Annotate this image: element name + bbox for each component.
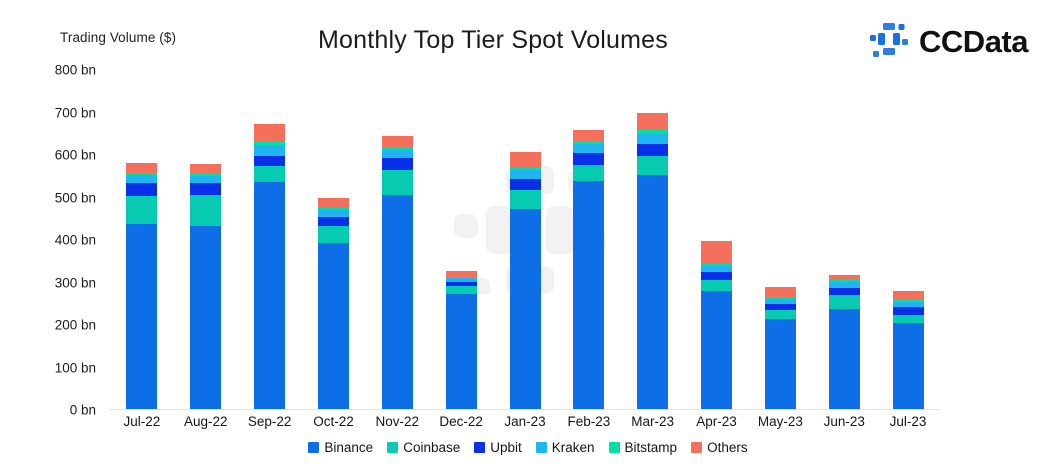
plot-area (110, 70, 940, 410)
bar-segment-coinbase[interactable] (510, 190, 541, 209)
legend-item[interactable]: Bitstamp (609, 440, 678, 455)
legend-label: Others (707, 440, 748, 455)
bar-segment-binance[interactable] (190, 226, 221, 410)
bar-segment-coinbase[interactable] (446, 286, 477, 294)
bar-segment-binance[interactable] (318, 243, 349, 410)
x-axis-tick-label: May-23 (758, 414, 803, 429)
bar-segment-binance[interactable] (765, 319, 796, 410)
bar-segment-coinbase[interactable] (765, 310, 796, 319)
legend-label: Bitstamp (625, 440, 678, 455)
bar-column[interactable] (510, 152, 541, 410)
bar-segment-binance[interactable] (510, 209, 541, 410)
bar-segment-kraken[interactable] (318, 210, 349, 217)
bar-segment-coinbase[interactable] (318, 226, 349, 244)
bar-segment-others[interactable] (254, 124, 285, 141)
chart-legend: BinanceCoinbaseUpbitKrakenBitstampOthers (0, 440, 1056, 455)
x-axis-tick-label: Dec-22 (439, 414, 483, 429)
bar-column[interactable] (446, 271, 477, 410)
bar-segment-coinbase[interactable] (126, 196, 157, 224)
bar-column[interactable] (318, 198, 349, 410)
y-axis-tick-label: 300 bn (55, 275, 96, 290)
x-axis-tick-label: Jun-23 (824, 414, 865, 429)
legend-swatch-icon (609, 442, 620, 453)
bar-segment-binance[interactable] (573, 181, 604, 411)
y-axis-tick-label: 0 bn (70, 403, 96, 418)
x-axis-labels: Jul-22Aug-22Sep-22Oct-22Nov-22Dec-22Jan-… (110, 414, 940, 436)
bar-segment-coinbase[interactable] (382, 170, 413, 195)
bar-segment-others[interactable] (701, 241, 732, 264)
ccdata-blocks-logo-icon (869, 22, 909, 60)
x-axis-tick-label: Nov-22 (376, 414, 420, 429)
bar-segment-others[interactable] (573, 130, 604, 141)
legend-item[interactable]: Others (691, 440, 748, 455)
brand-logo: CCData (869, 22, 1028, 60)
x-axis-tick-label: Mar-23 (631, 414, 674, 429)
legend-swatch-icon (691, 442, 702, 453)
bar-segment-kraken[interactable] (126, 175, 157, 183)
bar-segment-kraken[interactable] (573, 144, 604, 153)
bar-segment-upbit[interactable] (382, 158, 413, 170)
y-axis-tick-label: 200 bn (55, 318, 96, 333)
bar-segment-binance[interactable] (126, 224, 157, 410)
x-axis-tick-label: Apr-23 (696, 414, 737, 429)
bar-segment-upbit[interactable] (318, 217, 349, 226)
bar-segment-binance[interactable] (382, 195, 413, 410)
bar-segment-coinbase[interactable] (701, 280, 732, 291)
bar-segment-others[interactable] (382, 136, 413, 147)
bar-segment-binance[interactable] (701, 291, 732, 410)
y-axis-tick-label: 500 bn (55, 190, 96, 205)
y-axis-tick-label: 600 bn (55, 148, 96, 163)
legend-swatch-icon (308, 442, 319, 453)
bar-segment-binance[interactable] (893, 323, 924, 410)
bar-segment-upbit[interactable] (573, 153, 604, 165)
bar-segment-coinbase[interactable] (254, 166, 285, 182)
bar-segment-coinbase[interactable] (573, 165, 604, 180)
bar-column[interactable] (829, 275, 860, 410)
bar-segment-upbit[interactable] (637, 144, 668, 156)
chart-container: Trading Volume ($) Monthly Top Tier Spot… (0, 0, 1056, 475)
x-axis-tick-label: Feb-23 (567, 414, 610, 429)
bar-segment-binance[interactable] (254, 182, 285, 410)
bar-segment-coinbase[interactable] (893, 315, 924, 324)
bar-segment-others[interactable] (637, 113, 668, 130)
legend-swatch-icon (474, 442, 485, 453)
x-axis-tick-label: Jan-23 (504, 414, 545, 429)
bar-segment-coinbase[interactable] (637, 156, 668, 175)
y-axis-tick-label: 100 bn (55, 360, 96, 375)
bar-segment-binance[interactable] (637, 175, 668, 410)
bar-column[interactable] (190, 164, 221, 410)
bar-segment-others[interactable] (510, 152, 541, 168)
bar-segment-kraken[interactable] (510, 170, 541, 179)
legend-item[interactable]: Binance (308, 440, 373, 455)
legend-label: Upbit (490, 440, 522, 455)
legend-item[interactable]: Kraken (536, 440, 595, 455)
bar-column[interactable] (893, 291, 924, 410)
legend-label: Coinbase (403, 440, 460, 455)
bar-column[interactable] (382, 136, 413, 410)
bar-segment-upbit[interactable] (254, 156, 285, 165)
bar-segment-upbit[interactable] (510, 179, 541, 190)
legend-item[interactable]: Coinbase (387, 440, 460, 455)
bar-column[interactable] (701, 241, 732, 410)
bar-segment-kraken[interactable] (254, 145, 285, 156)
y-axis-tick-label: 400 bn (55, 233, 96, 248)
bar-segment-others[interactable] (893, 291, 924, 300)
legend-label: Kraken (552, 440, 595, 455)
y-axis-tick-label: 800 bn (55, 63, 96, 78)
bar-segment-binance[interactable] (446, 294, 477, 410)
x-axis-tick-label: Jul-23 (890, 414, 927, 429)
legend-label: Binance (324, 440, 373, 455)
legend-swatch-icon (536, 442, 547, 453)
bar-column[interactable] (765, 287, 796, 410)
bar-segment-kraken[interactable] (637, 134, 668, 144)
bar-column[interactable] (254, 124, 285, 410)
x-axis-tick-label: Oct-22 (313, 414, 354, 429)
legend-item[interactable]: Upbit (474, 440, 522, 455)
brand-name: CCData (919, 26, 1028, 57)
bar-segment-upbit[interactable] (829, 288, 860, 295)
bar-segment-others[interactable] (765, 287, 796, 297)
x-axis-tick-label: Sep-22 (248, 414, 292, 429)
bar-segment-upbit[interactable] (190, 183, 221, 196)
bar-segment-others[interactable] (318, 198, 349, 207)
bar-segment-upbit[interactable] (893, 307, 924, 315)
bar-column[interactable] (126, 163, 157, 410)
bar-column[interactable] (573, 130, 604, 410)
bar-group (110, 70, 940, 410)
x-axis-baseline (110, 409, 940, 410)
y-axis-tick-label: 700 bn (55, 105, 96, 120)
bar-segment-coinbase[interactable] (829, 295, 860, 309)
bar-segment-others[interactable] (190, 164, 221, 173)
bar-segment-binance[interactable] (829, 309, 860, 410)
bar-segment-others[interactable] (126, 163, 157, 173)
bar-segment-kraken[interactable] (382, 150, 413, 159)
bar-segment-upbit[interactable] (701, 272, 732, 280)
bar-segment-kraken[interactable] (190, 176, 221, 183)
legend-swatch-icon (387, 442, 398, 453)
y-axis-labels: 0 bn100 bn200 bn300 bn400 bn500 bn600 bn… (0, 70, 104, 410)
bar-column[interactable] (637, 113, 668, 410)
x-axis-tick-label: Aug-22 (184, 414, 228, 429)
bar-segment-coinbase[interactable] (190, 195, 221, 225)
x-axis-tick-label: Jul-22 (124, 414, 161, 429)
bar-segment-upbit[interactable] (126, 183, 157, 196)
